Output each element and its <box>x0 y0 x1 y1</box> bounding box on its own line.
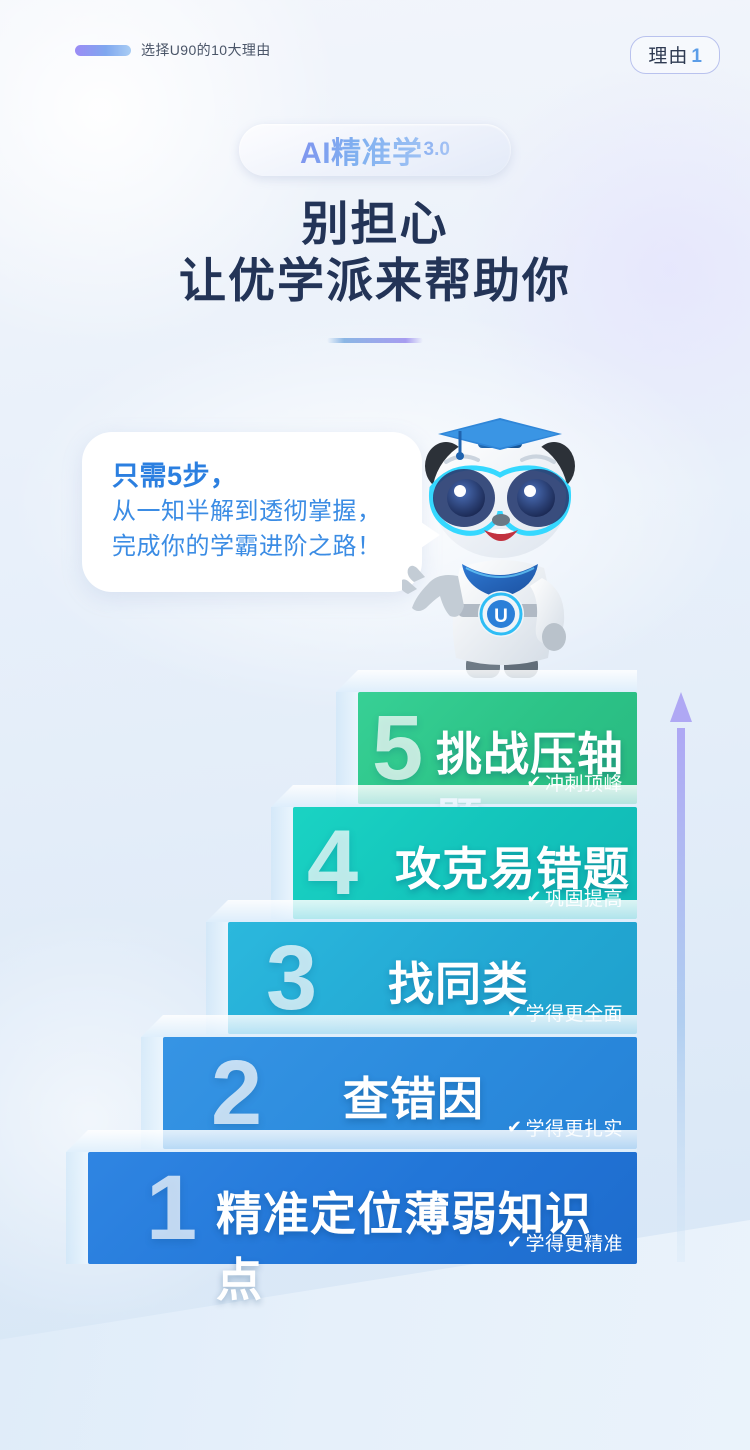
top-bar: 选择U90的10大理由 理由 1 <box>0 0 750 92</box>
kicker-label: 选择U90的10大理由 <box>141 40 271 60</box>
step-title-2: 查错因 <box>343 1063 484 1129</box>
step-number-4: 4 <box>307 817 358 909</box>
mascot-nose <box>492 514 510 526</box>
step-top-bevel <box>271 785 637 807</box>
step-number-1: 1 <box>146 1162 197 1254</box>
bubble-line-1: 只需5步， <box>112 458 396 494</box>
step-sub-1: ✔ 学得更精准 <box>507 1229 623 1256</box>
panda-robot-mascot: U <box>402 418 598 700</box>
check-icon: ✔ <box>507 1232 523 1253</box>
step-left-bevel <box>66 1152 88 1264</box>
reason-badge[interactable]: 理由 1 <box>630 36 720 74</box>
step-top-bevel <box>141 1015 637 1037</box>
reason-badge-label: 理由 <box>648 41 688 68</box>
gradient-bar-icon <box>75 45 131 56</box>
headline-line-1: 别担心 <box>0 196 750 252</box>
step-number-2: 2 <box>211 1047 262 1139</box>
bubble-line-3: 完成你的学霸进阶之路！ <box>112 529 396 564</box>
brand-badge: AI精准学 3.0 <box>239 124 511 176</box>
bubble-line-2: 从一知半解到透彻掌握， <box>112 494 396 529</box>
step-top-bevel <box>206 900 637 922</box>
kicker: 选择U90的10大理由 <box>75 40 271 60</box>
brand-name: AI精准学 <box>300 128 423 172</box>
reason-badge-number: 1 <box>691 46 702 68</box>
steps-staircase: 5 挑战压轴题 ✔ 冲刺顶峰 4 攻克易错题 ✔ 巩固提高 3 找同类 ✔ 学得… <box>0 660 750 1280</box>
step-top-bevel <box>66 1130 637 1152</box>
step-card-1[interactable]: 1 精准定位薄弱知识点 ✔ 学得更精准 <box>88 1152 637 1264</box>
brand-version: 3.0 <box>424 139 450 161</box>
step-number-5: 5 <box>372 702 423 794</box>
step-top-bevel <box>336 670 637 692</box>
step-sub-label-1: 学得更精准 <box>525 1229 623 1256</box>
page-title: 别担心 让优学派来帮助你 <box>0 196 750 310</box>
divider <box>327 338 423 343</box>
mascot-medal-badge: U <box>478 591 524 637</box>
speech-bubble: 只需5步， 从一知半解到透彻掌握， 完成你的学霸进阶之路！ <box>82 432 422 592</box>
step-number-3: 3 <box>266 932 317 1024</box>
headline-line-2: 让优学派来帮助你 <box>0 252 750 310</box>
svg-text:U: U <box>494 606 508 627</box>
